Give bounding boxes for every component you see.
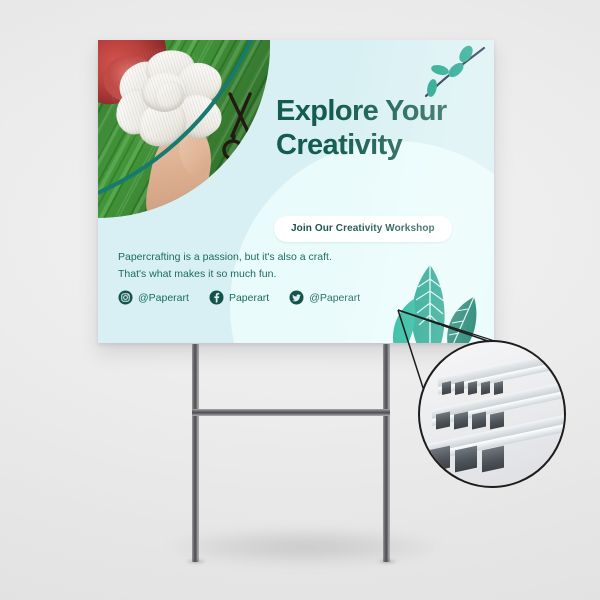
body-copy: Papercrafting is a passion, but it's als… [118,249,332,283]
flute-cell [481,381,490,395]
flute-cell [454,412,468,430]
flute-cell [494,381,503,395]
social-link-instagram[interactable]: @Paperart [118,290,189,305]
scissors-icon [220,88,266,176]
social-links: @Paperart Paperart @Paperart [118,290,360,305]
magnifier-lens [418,340,566,488]
body-line-1: Papercrafting is a passion, but it's als… [118,249,332,266]
stake-foot-shadow-right [372,558,402,565]
body-line-2: That's what makes it so much fun. [118,266,332,283]
flute-cell [428,446,450,473]
stake-leg-right [383,344,390,562]
instagram-handle: @Paperart [138,292,189,304]
twitter-icon [289,290,304,305]
cta-button[interactable]: Join Our Creativity Workshop [274,216,452,242]
facebook-icon [209,290,224,305]
instagram-icon [118,290,133,305]
headline-line-2: Creativity [276,129,482,163]
flute-cell [490,412,504,430]
headline-line-1: Explore Your [276,95,482,129]
flute-cell [482,446,504,473]
product-photo [98,40,278,226]
social-link-twitter[interactable]: @Paperart [289,290,360,305]
flute-cell [455,381,464,395]
flute-cell [442,381,451,395]
page-title: Explore Your Creativity [276,95,482,163]
flute-cell [436,412,450,430]
corrugated-flutes [418,360,564,478]
mockup-scene: Explore Your Creativity Join Our Creativ… [0,0,600,600]
flute-cell [455,446,477,473]
flute-cell [468,381,477,395]
flute-cell [472,412,486,430]
social-link-facebook[interactable]: Paperart [209,290,269,305]
stake-leg-left [192,344,199,562]
facebook-handle: Paperart [229,292,269,304]
magnifier-detail [390,296,590,476]
stake-crossbar [192,409,390,416]
twitter-handle: @Paperart [309,292,360,304]
stake-foot-shadow-left [181,558,211,565]
